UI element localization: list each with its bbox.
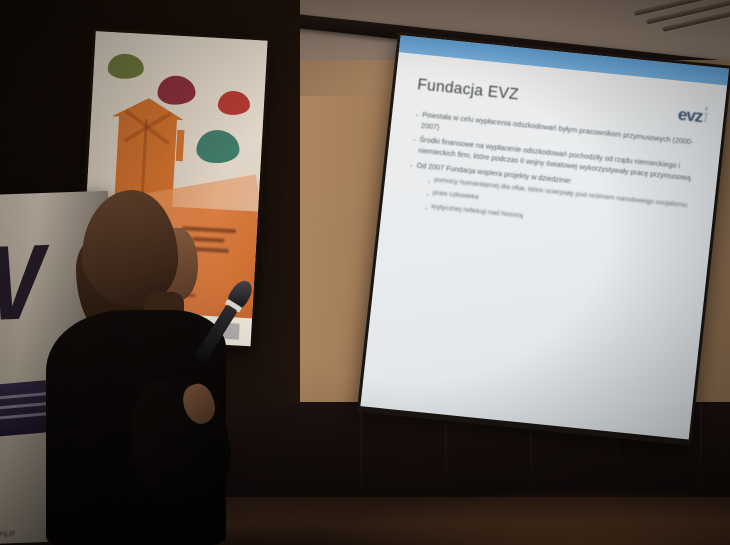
evz-logo-text: evz (677, 105, 703, 126)
evz-logo-subtext: EVZ (704, 107, 709, 124)
slide-bullet-list: Powstała w celu wypłacenia odszkodowań b… (404, 108, 704, 239)
banner-footer: www.w.org.pl (0, 530, 15, 538)
slide-content: Fundacja EVZ evzEVZ Powstała w celu wypł… (360, 52, 727, 439)
sub-bullet-text: praw człowieka (432, 190, 479, 202)
floor-light-pool (300, 487, 730, 545)
conference-room-photo: Fundacja EVZ evzEVZ Powstała w celu wypł… (0, 0, 730, 545)
projection-screen: Fundacja EVZ evzEVZ Powstała w celu wypł… (357, 32, 730, 446)
banner-letter: W (0, 229, 39, 338)
presenter (40, 188, 250, 545)
evz-logo: evzEVZ (677, 105, 709, 128)
hair (82, 190, 178, 306)
slide-surface: Fundacja EVZ evzEVZ Powstała w celu wypł… (360, 35, 729, 439)
